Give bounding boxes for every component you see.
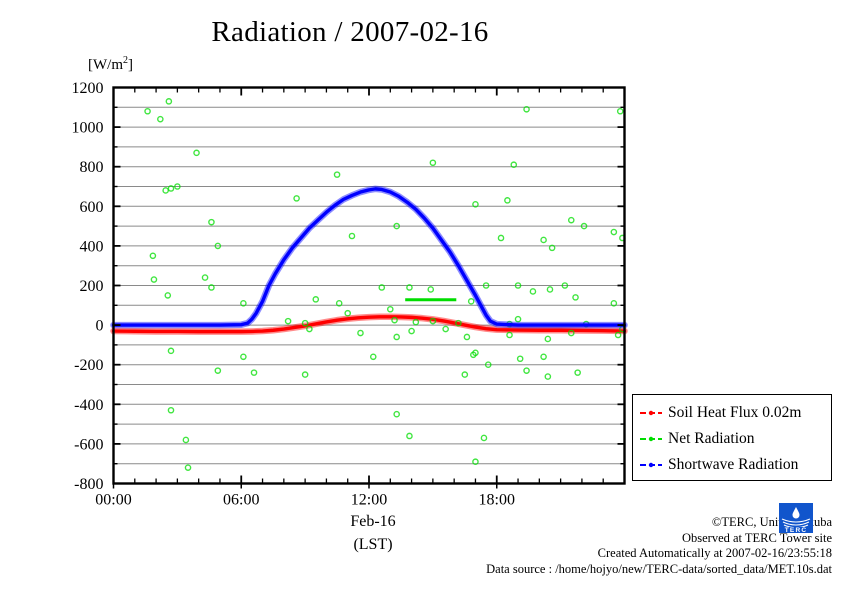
scatter-point xyxy=(209,220,214,225)
scatter-point xyxy=(185,465,190,470)
scatter-point xyxy=(530,289,535,294)
scatter-point xyxy=(241,354,246,359)
scatter-point xyxy=(515,317,520,322)
scatter-point xyxy=(215,368,220,373)
scatter-point xyxy=(443,326,448,331)
scatter-point xyxy=(469,299,474,304)
scatter-point xyxy=(158,117,163,122)
scatter-point xyxy=(166,99,171,104)
scatter-point xyxy=(345,311,350,316)
y-tick-label: -600 xyxy=(74,436,103,453)
scatter-point xyxy=(394,412,399,417)
scatter-point xyxy=(545,374,550,379)
scatter-point xyxy=(541,237,546,242)
legend: Soil Heat Flux 0.02m Net Radiation Short… xyxy=(632,394,832,481)
svg-text:TERC: TERC xyxy=(785,527,808,533)
scatter-point xyxy=(618,109,623,114)
legend-item-soil-heat-flux: Soil Heat Flux 0.02m xyxy=(633,400,831,426)
footer-observation-site: Observed at TERC Tower site xyxy=(412,531,832,547)
scatter-point xyxy=(394,334,399,339)
scatter-point xyxy=(150,253,155,258)
scatter-point xyxy=(505,198,510,203)
scatter-point xyxy=(462,372,467,377)
x-tick-label: 06:00 xyxy=(223,492,259,509)
y-tick-label: -400 xyxy=(74,397,103,414)
scatter-point xyxy=(481,435,486,440)
scatter-point xyxy=(145,109,150,114)
scatter-point xyxy=(407,433,412,438)
scatter-point xyxy=(285,319,290,324)
footer-credits: ©TERC, Univ. Tsukuba Observed at TERC To… xyxy=(412,515,832,577)
legend-key-net-radiation xyxy=(640,433,662,445)
terc-logo-icon: TERC xyxy=(779,503,813,533)
scatter-point xyxy=(349,233,354,238)
scatter-point xyxy=(541,354,546,359)
legend-label-soil-heat-flux: Soil Heat Flux 0.02m xyxy=(668,404,801,422)
scatter-point xyxy=(409,328,414,333)
legend-key-shortwave-radiation xyxy=(640,459,662,471)
x-tick-label: 00:00 xyxy=(95,492,131,509)
scatter-point xyxy=(388,307,393,312)
legend-label-net-radiation: Net Radiation xyxy=(668,430,755,448)
scatter-point xyxy=(545,336,550,341)
y-tick-label: -200 xyxy=(74,357,103,374)
x-axis-tick-labels: 00:0006:0012:0018:00 xyxy=(95,492,515,509)
scatter-point xyxy=(464,334,469,339)
scatter-point xyxy=(313,297,318,302)
legend-key-soil-heat-flux xyxy=(640,407,662,419)
scatter-point xyxy=(575,370,580,375)
legend-item-shortwave-radiation: Shortwave Radiation xyxy=(633,452,831,478)
radiation-chart: Radiation / 2007-02-16 [W/m2] 1200100080… xyxy=(0,0,842,595)
scatter-point xyxy=(428,287,433,292)
plot-area: 120010008006004002000-200-400-600-800 00… xyxy=(0,0,842,595)
scatter-point xyxy=(498,235,503,240)
footer-created-timestamp: Created Automatically at 2007-02-16/23:5… xyxy=(412,546,832,562)
scatter-point xyxy=(151,277,156,282)
footer-data-source: Data source : /home/hojyo/new/TERC-data/… xyxy=(412,562,832,578)
scatter-point xyxy=(569,218,574,223)
scatter-point xyxy=(168,408,173,413)
scatter-point xyxy=(165,293,170,298)
scatter-point xyxy=(183,437,188,442)
series-line-halo-2 xyxy=(114,189,625,325)
scatter-point xyxy=(573,295,578,300)
scatter-point xyxy=(303,372,308,377)
scatter-point xyxy=(334,172,339,177)
scatter-point xyxy=(251,370,256,375)
scatter-point xyxy=(518,356,523,361)
scatter-point xyxy=(611,229,616,234)
scatter-point xyxy=(202,275,207,280)
scatter-point xyxy=(168,348,173,353)
y-axis-tick-labels: 120010008006004002000-200-400-600-800 xyxy=(72,80,104,493)
scatter-point xyxy=(294,196,299,201)
y-tick-label: -800 xyxy=(74,476,103,493)
scatter-point xyxy=(430,160,435,165)
legend-item-net-radiation: Net Radiation xyxy=(633,426,831,452)
scatter-point xyxy=(524,368,529,373)
y-tick-label: 400 xyxy=(80,238,104,255)
series-line-2 xyxy=(114,189,625,325)
legend-label-shortwave-radiation: Shortwave Radiation xyxy=(668,456,798,474)
y-tick-label: 1200 xyxy=(72,80,104,97)
data-series-layer xyxy=(114,99,625,471)
gridlines xyxy=(114,107,625,463)
y-tick-label: 0 xyxy=(96,318,104,335)
x-tick-label: 12:00 xyxy=(351,492,387,509)
scatter-point xyxy=(194,150,199,155)
y-tick-label: 600 xyxy=(80,199,104,216)
scatter-point xyxy=(547,287,552,292)
footer-copyright: ©TERC, Univ. Tsukuba xyxy=(412,515,832,531)
x-tick-label: 18:00 xyxy=(479,492,515,509)
y-tick-label: 1000 xyxy=(72,120,104,137)
y-tick-label: 200 xyxy=(80,278,104,295)
scatter-point xyxy=(163,188,168,193)
scatter-point xyxy=(371,354,376,359)
scatter-point xyxy=(358,330,363,335)
y-tick-label: 800 xyxy=(80,159,104,176)
scatter-point xyxy=(507,332,512,337)
